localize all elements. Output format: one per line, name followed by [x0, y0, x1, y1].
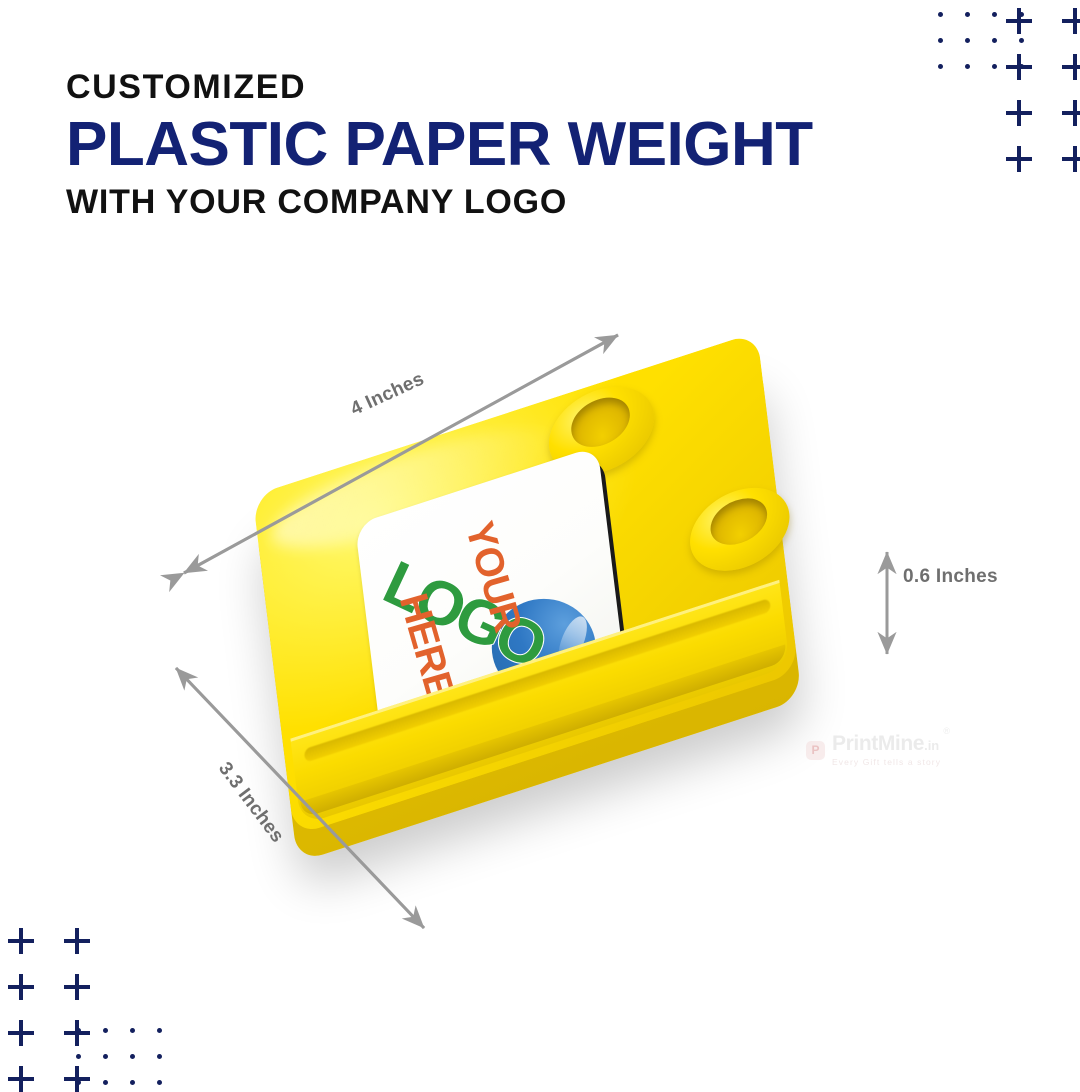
dot-icon [992, 12, 997, 17]
watermark-name-row: PrintMine.in ® [832, 733, 941, 755]
dot-icon [130, 1054, 135, 1059]
page-title: PLASTIC PAPER WEIGHT [66, 110, 906, 179]
plus-icon [1062, 146, 1080, 172]
dot-icon [157, 1028, 162, 1033]
dot-icon [130, 1028, 135, 1033]
plus-icon [1006, 8, 1032, 34]
watermark: P PrintMine.in ® Every Gift tells a stor… [806, 733, 941, 767]
plus-icon [1062, 100, 1080, 126]
dot-icon [103, 1054, 108, 1059]
dot-icon [965, 64, 970, 69]
watermark-tagline: Every Gift tells a story [832, 757, 941, 767]
dot-icon [992, 38, 997, 43]
dot-icon [76, 1054, 81, 1059]
heading-subtitle: WITH YOUR COMPANY LOGO [66, 185, 906, 221]
paper-weight-product: LOGO YOUR HERE [252, 332, 807, 908]
dot-icon [157, 1080, 162, 1085]
plus-icon [1006, 146, 1032, 172]
dot-icon [76, 1028, 81, 1033]
dot-icon [157, 1054, 162, 1059]
printmine-badge-icon: P [806, 741, 825, 760]
product-stage: LOGO YOUR HERE [0, 300, 1080, 1000]
dot-icon [130, 1080, 135, 1085]
watermark-tld: .in [924, 738, 939, 753]
dot-grid-bottom-left [76, 1028, 162, 1085]
dot-icon [938, 38, 943, 43]
dot-icon [938, 64, 943, 69]
plus-icon [1006, 54, 1032, 80]
dot-icon [965, 38, 970, 43]
dot-icon [938, 12, 943, 17]
plus-icon [8, 1020, 34, 1046]
dot-icon [103, 1028, 108, 1033]
dimension-label-height: 0.6 Inches [903, 566, 998, 588]
dot-icon [76, 1080, 81, 1085]
plus-icon [1006, 100, 1032, 126]
heading-eyebrow: CUSTOMIZED [66, 70, 906, 106]
plus-grid-top-right [1006, 8, 1080, 172]
watermark-text: PrintMine.in ® Every Gift tells a story [832, 733, 941, 767]
heading-block: CUSTOMIZED PLASTIC PAPER WEIGHT WITH YOU… [66, 70, 906, 221]
dot-icon [992, 64, 997, 69]
plus-icon [1062, 54, 1080, 80]
plus-icon [1062, 8, 1080, 34]
dot-icon [103, 1080, 108, 1085]
plus-icon [8, 1066, 34, 1092]
registered-trademark-icon: ® [943, 726, 950, 736]
dot-icon [965, 12, 970, 17]
watermark-brand-name: PrintMine [832, 732, 924, 755]
